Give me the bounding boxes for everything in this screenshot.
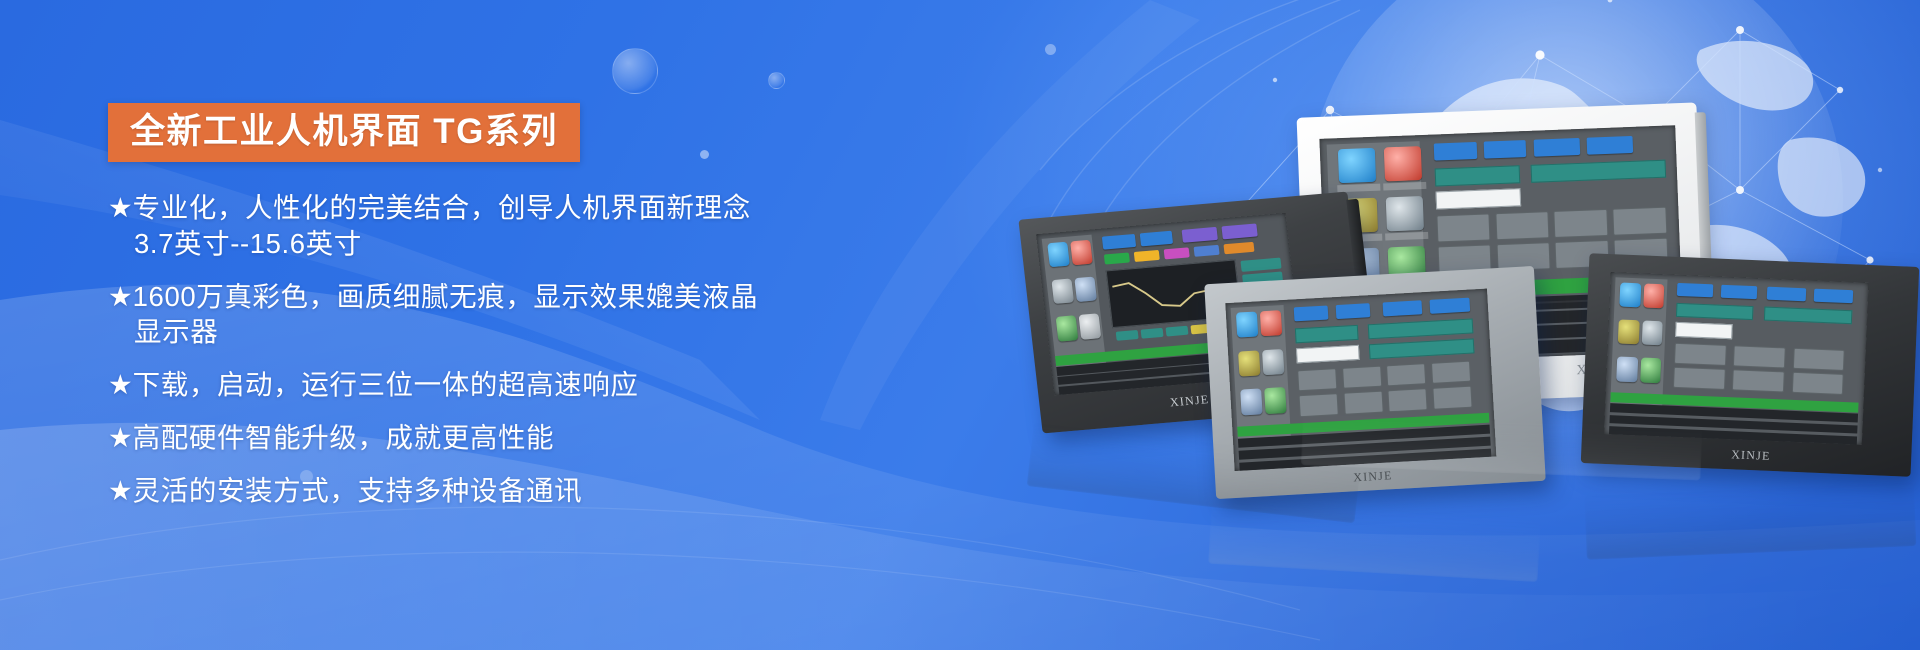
list-item: ★灵活的安装方式，支持多种设备通讯 — [108, 473, 898, 509]
screen-icon-exit — [1264, 387, 1286, 413]
star-icon: ★ — [108, 475, 133, 506]
hmi-device-group: XINJE — [1040, 95, 1920, 515]
decor-bubble — [1045, 44, 1056, 55]
screen-button — [1104, 252, 1130, 264]
screen-icon-settings — [1239, 350, 1261, 376]
star-icon: ★ — [108, 192, 133, 223]
screen-button — [1134, 250, 1160, 262]
screen-button — [1223, 242, 1254, 254]
screen-icon-s — [1047, 241, 1070, 267]
screen-button — [1164, 247, 1190, 259]
screen-button — [1139, 231, 1173, 247]
brand-label: XINJE — [1731, 447, 1771, 464]
list-item: ★高配硬件智能升级，成就更高性能 — [108, 420, 898, 456]
screen-button — [1677, 283, 1714, 297]
device-reflection — [1583, 466, 1916, 560]
list-item-sublabel: 3.7英寸--15.6英寸 — [108, 226, 898, 262]
screen-button — [1240, 257, 1281, 272]
list-item-label: 1600万真彩色，画质细腻无痕，显示效果媲美液晶 — [133, 281, 759, 312]
screen-button — [1336, 304, 1371, 319]
screen-icon-gauge — [1074, 277, 1097, 303]
brand-label: XINJE — [1169, 392, 1210, 410]
screen-icon-s — [1236, 312, 1258, 338]
banner-text-block: 全新工业人机界面 TG系列 ★专业化，人性化的完美结合，创导人机界面新理念 3.… — [108, 103, 898, 525]
screen-icon-alarm — [1070, 239, 1093, 265]
screen-button — [1194, 245, 1220, 257]
star-icon: ★ — [108, 422, 133, 453]
list-item-label: 下载，启动，运行三位一体的超高速响应 — [133, 369, 639, 400]
screen-button — [1115, 330, 1139, 342]
screen-button — [1814, 289, 1853, 304]
screen-button — [1182, 227, 1218, 243]
screen-icon-chart — [1241, 389, 1263, 415]
screen-icon-exit — [1640, 358, 1662, 383]
screen-icon-gauge — [1262, 349, 1284, 375]
screen-icon-s — [1338, 148, 1377, 183]
screen-button — [1294, 306, 1329, 321]
screen-icon-gauge — [1386, 196, 1425, 231]
screen-icon-exit — [1056, 315, 1079, 341]
screen-button — [1483, 140, 1526, 159]
screen-icon-gauge — [1641, 320, 1663, 345]
device-reflection — [1208, 484, 1542, 582]
screen-button — [1383, 301, 1423, 317]
screen-icon-settings — [1618, 319, 1640, 344]
screen-button — [1221, 224, 1257, 240]
screen-button — [1102, 234, 1136, 250]
list-item-label: 高配硬件智能升级，成就更高性能 — [133, 422, 555, 453]
screen-icon-s — [1620, 282, 1642, 307]
list-item-sublabel: 显示器 — [108, 314, 898, 350]
screen-button — [1434, 142, 1477, 161]
list-item-label: 专业化，人性化的完美结合，创导人机界面新理念 — [133, 192, 751, 223]
decor-bubble — [612, 48, 658, 94]
screen-icon-alarm — [1384, 146, 1423, 181]
screen-button — [1430, 298, 1470, 314]
screen-icon-tool — [1078, 314, 1101, 340]
star-icon: ★ — [108, 281, 133, 312]
decor-bubble — [768, 72, 785, 89]
page-title: 全新工业人机界面 TG系列 — [130, 112, 558, 151]
screen-button — [1767, 287, 1806, 302]
screen-button — [1587, 136, 1634, 155]
list-item: ★专业化，人性化的完美结合，创导人机界面新理念 3.7英寸--15.6英寸 — [108, 190, 898, 262]
screen-button — [1533, 138, 1580, 157]
screen-icon-alarm — [1260, 310, 1282, 336]
feature-list: ★专业化，人性化的完美结合，创导人机界面新理念 3.7英寸--15.6英寸 ★1… — [108, 190, 898, 508]
screen-button — [1721, 285, 1758, 299]
list-item: ★下载，启动，运行三位一体的超高速响应 — [108, 367, 898, 403]
screen-icon-alarm — [1643, 283, 1665, 308]
product-banner: 全新工业人机界面 TG系列 ★专业化，人性化的完美结合，创导人机界面新理念 3.… — [0, 0, 1920, 650]
star-icon: ★ — [108, 369, 133, 400]
list-item-label: 灵活的安装方式，支持多种设备通讯 — [133, 475, 583, 506]
screen-icon-chart — [1617, 357, 1639, 382]
screen-button — [1165, 325, 1189, 337]
list-item: ★1600万真彩色，画质细腻无痕，显示效果媲美液晶 显示器 — [108, 279, 898, 351]
screen-button — [1140, 327, 1164, 339]
title-banner: 全新工业人机界面 TG系列 — [108, 103, 580, 162]
screen-icon-settings — [1051, 278, 1074, 304]
